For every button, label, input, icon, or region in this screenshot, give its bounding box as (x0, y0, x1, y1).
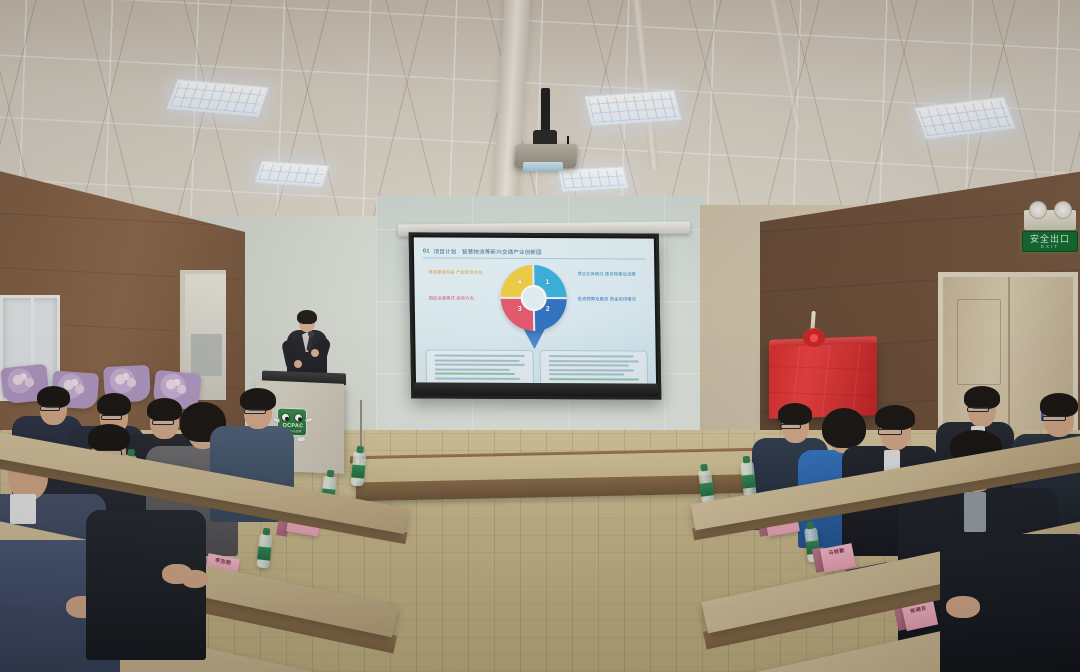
slide-textbox-left-bullet: · (430, 355, 431, 360)
slide-textbox-right-bullet: · (544, 356, 545, 361)
text-line (435, 377, 520, 379)
ceiling-light-panel (558, 166, 629, 191)
name-placard-text: 马桂勤 (824, 547, 853, 570)
quadrant-number-4: 4 (517, 279, 521, 286)
microphone-head (308, 331, 314, 337)
bottle-label (700, 482, 714, 496)
mascot-eye-left (281, 413, 290, 422)
conference-room-photo: 安全出口 EXIT 01 项目计划 · 智慧物流等新兴交通产业创新园 项目建设内… (0, 0, 1080, 672)
text-line (549, 369, 634, 371)
attendee-hand (182, 570, 208, 588)
attendee-hair (778, 403, 812, 425)
text-line (435, 368, 510, 370)
glasses-icon (101, 415, 122, 420)
attendee-hair (822, 408, 866, 448)
presenter-hand-right (311, 349, 319, 357)
slide-label-top-left: 项目建设内容 产业定位方向 (428, 269, 482, 275)
attendee-shirt (964, 492, 986, 532)
text-line (549, 360, 639, 362)
mascot-leg-right (295, 435, 306, 443)
text-line (435, 364, 525, 366)
attendee-hair (147, 398, 182, 421)
glasses-icon (1042, 416, 1066, 421)
slide-label-top-right: 项目总体情况 建设规模及进度 (577, 271, 636, 277)
doorway-interior (191, 334, 222, 376)
slide-number: 01 (423, 248, 430, 254)
slide-label-bottom-right: 投资预算及融资 资金安排情况 (578, 296, 637, 302)
exit-sign-label-en: EXIT (1041, 244, 1059, 249)
glasses-icon (780, 424, 801, 429)
emergency-light-unit (1024, 210, 1076, 230)
attendee-hair (964, 386, 1000, 409)
glasses-icon (152, 420, 174, 425)
attendee-hair (37, 386, 70, 408)
glasses-icon (967, 407, 989, 412)
quadrant-number-2: 2 (546, 306, 550, 313)
projector-lens (523, 162, 563, 171)
glasses-icon (244, 409, 266, 414)
text-line (549, 378, 639, 380)
attendee-hair (97, 393, 131, 416)
bottle-label (351, 464, 365, 478)
door-panel-detail (957, 299, 1001, 385)
projector-mount-pole (541, 88, 550, 134)
bottle-label (257, 546, 271, 560)
text-line (435, 373, 515, 375)
slide-header: 01 项目计划 · 智慧物流等新兴交通产业创新园 (423, 245, 645, 259)
presenter-hair (297, 310, 317, 324)
quadrant-pin-diagram: 1 2 3 4 (500, 265, 567, 349)
attendee-hair (875, 405, 915, 430)
stage-platform (356, 451, 756, 501)
mascot-eye-right (294, 413, 303, 422)
attendee-hair (240, 388, 276, 411)
quadrant-number-1: 1 (545, 279, 549, 286)
attendee-shirt (10, 494, 36, 524)
exit-sign: 安全出口 EXIT (1022, 231, 1078, 252)
text-line (549, 364, 629, 366)
text-line (435, 354, 525, 356)
presenter-hand-left (294, 360, 302, 368)
attendee-hand (946, 596, 980, 618)
glasses-icon (878, 429, 902, 435)
screen-bottom-bar (414, 382, 658, 396)
slide-title: 项目计划 · 智慧物流等新兴交通产业创新园 (434, 247, 542, 256)
donut-center-hole (521, 285, 547, 311)
attendee-hair (88, 424, 130, 451)
text-line (435, 359, 520, 361)
name-placard-text: 陈晓东 (905, 604, 934, 627)
ceiling-light-panel (254, 161, 329, 188)
glasses-icon (40, 406, 60, 411)
slide-content: 01 项目计划 · 智慧物流等新兴交通产业创新园 项目建设内容 产业定位方向 园… (414, 237, 656, 394)
projection-screen: 01 项目计划 · 智慧物流等新兴交通产业创新园 项目建设内容 产业定位方向 园… (409, 232, 662, 399)
quadrant-number-3: 3 (518, 306, 522, 313)
ceiling-light-panel (584, 90, 681, 126)
ribbon-flower-icon (803, 329, 825, 347)
text-line (549, 355, 634, 357)
attendee-hair (1040, 393, 1078, 417)
text-line (549, 373, 624, 375)
exit-sign-label-cn: 安全出口 (1030, 234, 1070, 244)
bottle-label (742, 474, 756, 488)
slide-label-bottom-left: 园区运营模式 招商方向 (429, 295, 474, 301)
